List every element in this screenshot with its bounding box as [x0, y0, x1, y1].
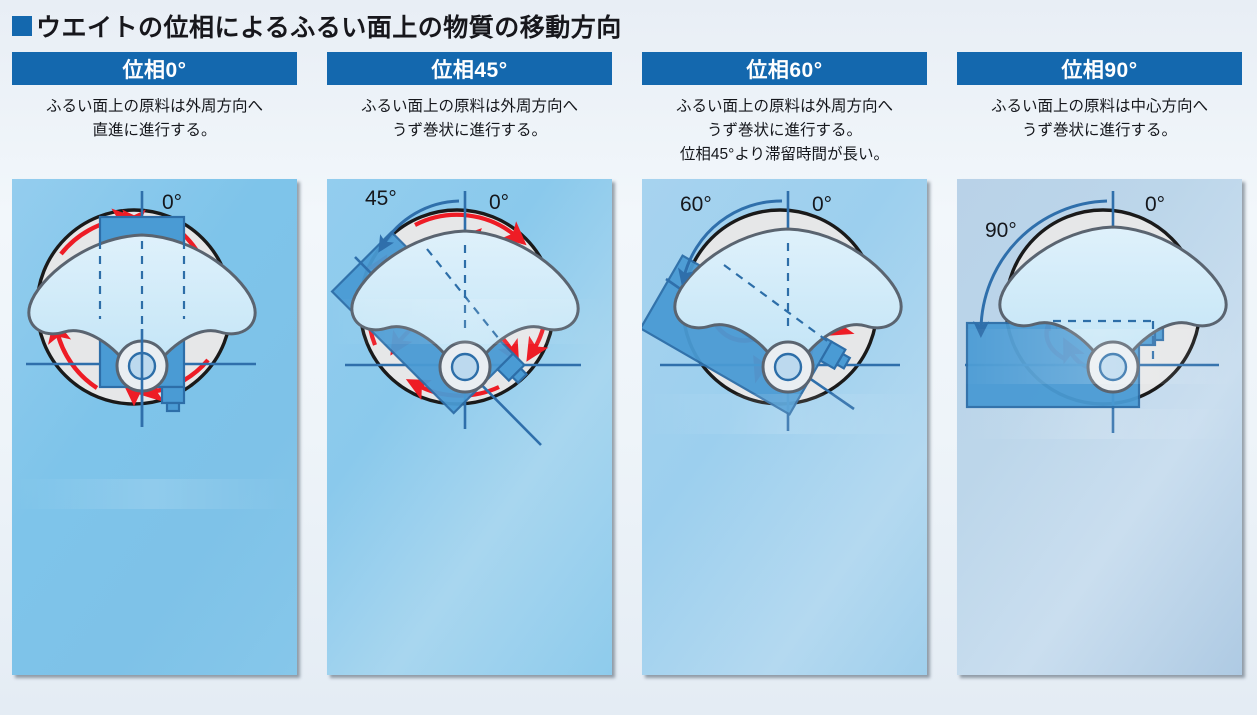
desc-line: 直進に進行する。: [14, 119, 295, 143]
column-header-45: 位相45°: [327, 52, 612, 85]
column-header-90: 位相90°: [957, 52, 1242, 85]
reference-angle-label-0: 0°: [162, 191, 182, 214]
page-title: ウエイトの位相によるふるい面上の物質の移動方向: [36, 8, 622, 44]
desc-line: うず巻状に進行する。: [329, 119, 610, 143]
desc-line: 位相45°より滞留時間が長い。: [644, 143, 925, 167]
desc-line: ふるい面上の原料は外周方向へ: [644, 95, 925, 119]
phase-column-0: 位相0° ふるい面上の原料は外周方向へ 直進に進行する。: [12, 52, 297, 675]
desc-line: ふるい面上の原料は中心方向へ: [959, 95, 1240, 119]
reference-angle-label-90: 0°: [1145, 193, 1165, 216]
column-header-0: 位相0°: [12, 52, 297, 85]
phase-columns: 位相0° ふるい面上の原料は外周方向へ 直進に進行する。: [0, 44, 1257, 675]
rotation-angle-label-90: 90°: [985, 219, 1017, 242]
figure-panel-0: 0°: [12, 179, 297, 675]
column-description-90: ふるい面上の原料は中心方向へ うず巻状に進行する。: [957, 85, 1242, 179]
rotation-angle-label-45: 45°: [365, 187, 397, 210]
figure-panel-60: 60° 0°: [642, 179, 927, 675]
figure-panel-90: 90° 0°: [957, 179, 1242, 675]
desc-line: ふるい面上の原料は外周方向へ: [14, 95, 295, 119]
figure-panel-45: 45° 0°: [327, 179, 612, 675]
reference-angle-label-45: 0°: [489, 191, 509, 214]
column-header-60: 位相60°: [642, 52, 927, 85]
phase-column-60: 位相60° ふるい面上の原料は外周方向へ うず巻状に進行する。 位相45°より滞…: [642, 52, 927, 675]
desc-line: うず巻状に進行する。: [644, 119, 925, 143]
desc-line: ふるい面上の原料は外周方向へ: [329, 95, 610, 119]
weight-mechanism-0: [26, 191, 256, 427]
reference-angle-label-60: 0°: [812, 193, 832, 216]
column-description-45: ふるい面上の原料は外周方向へ うず巻状に進行する。: [327, 85, 612, 179]
page-title-row: ウエイトの位相によるふるい面上の物質の移動方向: [0, 0, 1257, 44]
column-description-0: ふるい面上の原料は外周方向へ 直進に進行する。: [12, 85, 297, 179]
square-bullet-icon: [12, 16, 32, 36]
column-description-60: ふるい面上の原料は外周方向へ うず巻状に進行する。 位相45°より滞留時間が長い…: [642, 85, 927, 179]
rotation-angle-label-60: 60°: [680, 193, 712, 216]
desc-line: うず巻状に進行する。: [959, 119, 1240, 143]
phase-column-90: 位相90° ふるい面上の原料は中心方向へ うず巻状に進行する。: [957, 52, 1242, 675]
phase-column-45: 位相45° ふるい面上の原料は外周方向へ うず巻状に進行する。: [327, 52, 612, 675]
